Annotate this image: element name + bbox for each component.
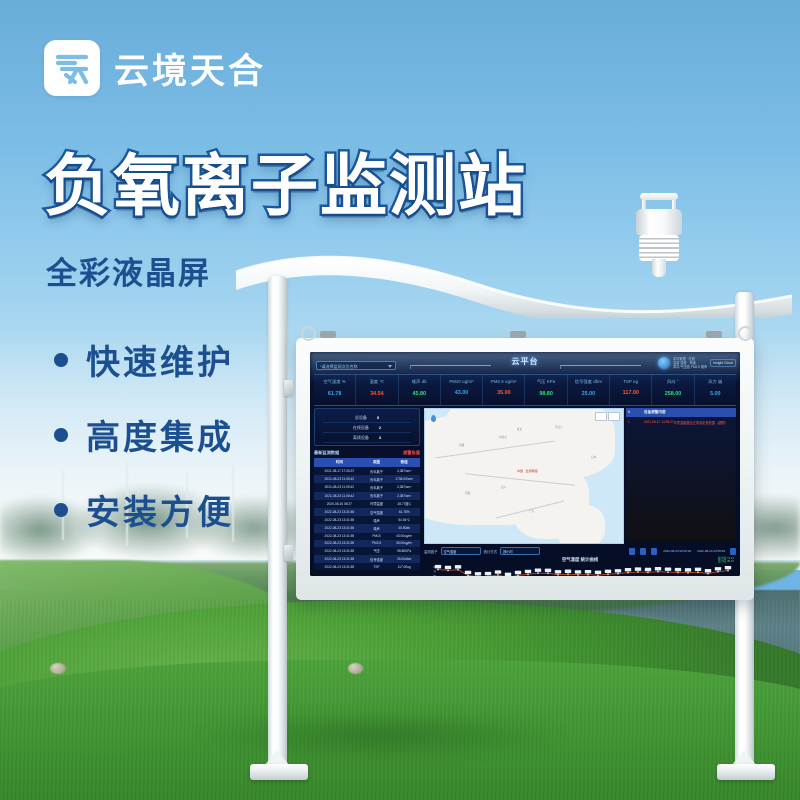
chart-point-label (535, 568, 541, 571)
feature-label: 安装方便 (86, 485, 234, 534)
dashboard-screen[interactable]: 云平台 *请选择监测点位名称 实时数据 · 在线 温度 湿度 · 风速 风向 气… (310, 352, 740, 576)
map-region-label: 广东 (529, 509, 534, 513)
chart-point-label (725, 566, 731, 569)
chart-point (677, 572, 679, 574)
chart-line (438, 570, 728, 577)
table-row[interactable]: 2021-08-23 11:05:42负氧离子1736.00/cm³ (314, 475, 420, 483)
table-cell-value: 43.00ug/m³ (388, 533, 420, 540)
site-selector-value: *请选择监测点位名称 (320, 364, 358, 369)
metric-value: 34.54 (356, 391, 397, 397)
chart-point (627, 572, 629, 574)
chart-point-label (485, 572, 491, 575)
recent-alarm-label[interactable]: 超警告值 (403, 450, 420, 456)
chart-point (447, 569, 449, 571)
feature-label: 快速维护 (86, 335, 234, 384)
stat-value: 5 (377, 413, 379, 422)
chart-point-label (575, 570, 581, 573)
chart-point-label (665, 568, 671, 571)
chart-factor-select[interactable]: 空气湿度 (441, 547, 481, 555)
feature-item: 快速维护 (54, 335, 234, 384)
chart-ytick: 60 (433, 575, 436, 576)
map-fullscreen-icon[interactable] (608, 412, 620, 421)
chart-point-label (515, 571, 521, 574)
table-cell-time: 2022-08-23 13:31:55 (314, 563, 365, 570)
chart-point-label (605, 570, 611, 573)
stat-row: 总设备5 (323, 413, 411, 423)
metric-value: 117.00 (610, 390, 651, 396)
table-cell-value: 1736.00/cm³ (388, 475, 420, 483)
monitor-ring (301, 326, 316, 341)
table-row[interactable]: 2022-08-23 13:31:55TSP117.00ug (314, 563, 420, 570)
rock (348, 663, 363, 674)
table-row[interactable]: 2022-08-23 13:31:55噪声54.54℃ (314, 516, 420, 524)
table-cell-value: 2,387/cm³ (388, 492, 420, 500)
chart-point-label (545, 569, 551, 572)
chart-point (687, 572, 689, 574)
ultrasonic-weather-sensor-icon (630, 193, 688, 275)
chart-point-label (555, 570, 561, 573)
table-cell-type: PM10 (365, 533, 389, 540)
bullet-dot-icon (54, 428, 68, 442)
metric-value: 98.80 (525, 391, 566, 397)
monitor-hanger (706, 331, 722, 338)
chart-point-label (455, 565, 461, 568)
metric-value: 5.00 (695, 391, 736, 397)
chart-range-day-button[interactable] (629, 548, 635, 555)
metric-cell: PM2.5 ug/m³35.00 (483, 375, 525, 405)
chart-point (727, 570, 729, 572)
chart-point (697, 571, 699, 573)
chart-point (657, 571, 659, 573)
alarm-row[interactable]: 12021-08-17 14:36:27环境温度超出正常设定值范围（超限） (626, 417, 736, 427)
chart-point (617, 573, 619, 575)
alarm-header-row: #设备报警内容 (626, 408, 736, 417)
table-cell-value: 45.80db (388, 524, 420, 532)
map-zoom-out-icon[interactable] (595, 412, 607, 421)
chart-point (467, 574, 469, 576)
chart-point-label (715, 567, 721, 570)
table-cell-type: 负氧离子 (365, 492, 389, 500)
metric-value: 45.80 (399, 391, 440, 397)
feature-list: 快速维护高度集成安装方便 (54, 335, 234, 560)
table-cell-time: 2022-08-23 13:31:55 (314, 516, 365, 524)
table-cell-value: 25.00dbm (388, 555, 420, 563)
cloud-sun-icon (658, 357, 670, 369)
site-selector[interactable]: *请选择监测点位名称 (316, 361, 396, 370)
top-right-info: 实时数据 · 在线 温度 湿度 · 风速 风向 气压值 PM2.5 噪声 (673, 357, 707, 369)
chart-range-week-button[interactable] (640, 548, 646, 555)
monitor-hanger (320, 331, 336, 338)
metric-label: 气压 KPa (525, 379, 566, 385)
table-column-header: 数值 (388, 458, 420, 467)
table-cell-type: 环境温度 (365, 500, 389, 508)
left-panel: 总设备5在线设备2离线设备3 最新监测数据 超警告值 时间类型数值 2021-0… (314, 408, 420, 572)
lcd-monitor: 云平台 *请选择监测点位名称 实时数据 · 在线 温度 湿度 · 风速 风向 气… (296, 338, 754, 600)
chart-point-label (585, 570, 591, 573)
chart-point (567, 573, 569, 575)
table-cell-type: TSP (365, 563, 389, 570)
table-cell-value: 54.54℃ (388, 516, 420, 524)
support-post-left (268, 276, 287, 776)
chart-date-to[interactable]: 2022-08-23 23:59:59 (697, 549, 725, 553)
chart-point (527, 573, 529, 575)
chart-point (637, 571, 639, 573)
humidity-line-chart: 8070605040302000:0001:0002:0003:0004:000… (424, 564, 732, 576)
map-panel[interactable]: 中国 · 监测网络 新疆 内蒙古 黑龙江 西藏 四川 广东 日本 蒙古 (424, 408, 624, 544)
chart-point-label (655, 567, 661, 570)
brand-logo: 云境天合 (44, 40, 266, 96)
chart-ytick: 70 (433, 571, 436, 574)
table-row[interactable]: 2020-08-16 05:27环境温度28.77度C (314, 500, 420, 508)
alarm-cell-message: 环境温度超出正常设定值范围（超限） (674, 420, 728, 425)
stat-value: 3 (379, 433, 381, 442)
map-center-label: 中国 · 监测网络 (517, 469, 538, 473)
metric-value: 61.78 (314, 391, 355, 397)
bullet-dot-icon (54, 353, 68, 367)
top-right-chip-2: 风向 气压值 PM2.5 噪声 (673, 365, 707, 369)
base-plate-left (250, 764, 308, 780)
chart-range-month-button[interactable] (651, 548, 657, 555)
table-cell-time: 2021-08-23 11:05:42 (314, 483, 365, 491)
table-row[interactable]: 2022-08-23 13:31:55空气湿度61.78% (314, 508, 420, 516)
metric-cell: PM10 ug/m³43.00 (441, 375, 483, 405)
metric-label: 噪声 db (399, 379, 440, 385)
alarm-body: 12021-08-17 14:36:27环境温度超出正常设定值范围（超限） (626, 417, 736, 427)
table-cell-time: 2022-08-23 13:31:55 (314, 555, 365, 563)
chevron-down-icon (388, 365, 392, 368)
chart-point (707, 573, 709, 575)
table-cell-time: 2022-08-23 13:31:55 (314, 533, 365, 540)
chart-point-label (625, 568, 631, 571)
table-cell-time: 2021-08-23 11:05:42 (314, 475, 365, 483)
chart-mode-select[interactable]: 按小时 (500, 547, 540, 555)
chart-point (457, 569, 459, 571)
base-plate-right (717, 764, 775, 780)
metric-cell: 空气湿度 %61.78 (314, 375, 356, 405)
metric-label: 风力 级 (695, 379, 736, 385)
chart-point-label (645, 568, 651, 571)
table-cell-type: 噪声 (365, 516, 389, 524)
table-cell-time: 2022-08-23 13:31:55 (314, 524, 365, 532)
map-region-label: 蒙古 (517, 427, 522, 431)
product-banner: 云平台 *请选择监测点位名称 实时数据 · 在线 温度 湿度 · 风速 风向 气… (0, 0, 800, 800)
dashboard-root: 云平台 *请选择监测点位名称 实时数据 · 在线 温度 湿度 · 风速 风向 气… (310, 352, 740, 576)
table-cell-type: 负氧离子 (365, 475, 389, 483)
stat-label: 在线设备 (353, 423, 369, 432)
table-cell-value: 117.00ug (388, 563, 420, 570)
table-cell-value: 98.80KPa (388, 547, 420, 555)
grass-shadow (120, 700, 640, 770)
table-row[interactable]: 2022-08-23 13:31:55信号强度25.00dbm (314, 555, 420, 563)
chart-point-label (475, 572, 481, 575)
feature-item: 安装方便 (54, 485, 234, 534)
alarm-column-header: 设备 (644, 410, 651, 415)
alarm-column-header: 报警内容 (651, 410, 665, 415)
metric-label: PM10 ug/m³ (441, 379, 482, 384)
stat-row: 在线设备2 (323, 423, 411, 433)
metric-cell: 风力 级5.00 (695, 375, 736, 405)
chart-point-label (615, 569, 621, 572)
table-row[interactable]: 2022-08-23 13:31:55噪声45.80db (314, 524, 420, 532)
metric-label: TSP ug (610, 379, 651, 384)
chart-point-label (435, 565, 441, 568)
table-row[interactable]: 2021-08-17 17:26:37负氧离子2,387/cm³ (314, 467, 420, 475)
rock (50, 663, 66, 674)
recent-header: 最新监测数据 超警告值 (314, 450, 420, 456)
table-cell-time: 2022-08-23 13:31:55 (314, 540, 365, 547)
table-row[interactable]: 2022-08-23 13:31:55PM2.535.00ug/m³ (314, 540, 420, 547)
table-cell-type: 气压 (365, 547, 389, 555)
chart-point (577, 574, 579, 576)
chart-point-label (685, 568, 691, 571)
chart-point-label (695, 568, 701, 571)
table-cell-type: 负氧离子 (365, 483, 389, 491)
bullet-dot-icon (54, 503, 68, 517)
table-cell-type: 信号强度 (365, 555, 389, 563)
metric-cell: 风向 °258.00 (652, 375, 694, 405)
alarm-cell-device: 2021-08-17 14:36:27 (644, 420, 674, 425)
chart-point-label (565, 570, 571, 573)
chart-point (597, 574, 599, 576)
chart-point-label (445, 566, 451, 569)
metric-label: 信号强度 dbm (568, 379, 609, 385)
chart-legend-min: 最小值 48.10 (718, 560, 734, 563)
stat-label: 总设备 (355, 413, 367, 422)
map-pin-icon[interactable] (431, 415, 436, 422)
table-header-row: 时间类型数值 (314, 458, 420, 467)
feature-label: 高度集成 (86, 410, 234, 459)
table-cell-type: 噪声 (365, 524, 389, 532)
chart-point-label (465, 571, 471, 574)
metric-label: 空气湿度 % (314, 379, 355, 385)
recent-data-table: 时间类型数值 2021-08-17 17:26:37负氧离子2,387/cm³2… (314, 458, 420, 570)
alarm-column-header: # (628, 410, 644, 415)
map-region-label: 日本 (591, 455, 596, 459)
chart-point-label (525, 570, 531, 573)
metric-value: 35.00 (483, 390, 524, 396)
chart-factor-label: 监测因子 (424, 549, 438, 554)
table-row[interactable]: 2021-08-23 11:05:42负氧离子2,387/cm³ (314, 483, 420, 491)
table-cell-value: 2,387/cm³ (388, 467, 420, 475)
metrics-row: 空气湿度 %61.78温度 ℃34.54噪声 db45.80PM10 ug/m³… (314, 374, 736, 406)
metric-cell: 温度 ℃34.54 (356, 375, 398, 405)
brand-name: 云境天合 (114, 43, 266, 94)
stat-row: 离线设备3 (323, 433, 411, 443)
chart-point (537, 572, 539, 574)
chart-point (547, 572, 549, 574)
table-cell-type: PM2.5 (365, 540, 389, 547)
mount-clip (284, 545, 293, 561)
metric-value: 25.00 (568, 391, 609, 397)
table-cell-time: 2022-08-23 13:31:55 (314, 508, 365, 516)
table-column-header: 类型 (365, 458, 389, 467)
metric-label: 风向 ° (652, 379, 693, 385)
monitor-ring (738, 326, 753, 341)
metric-value: 43.00 (441, 390, 482, 396)
table-column-header: 时间 (314, 458, 365, 467)
chart-export-button[interactable] (730, 548, 736, 555)
metric-label: PM2.5 ug/m³ (483, 379, 524, 384)
chart-controls: 监测因子 空气湿度 统计方式 按小时 2022-08-23 00:00:00 2… (424, 546, 736, 556)
device-stats-box: 总设备5在线设备2离线设备3 (314, 408, 420, 446)
table-cell-time: 2021-08-23 11:05:42 (314, 492, 365, 500)
dashboard-top-right: 实时数据 · 在线 温度 湿度 · 风速 风向 气压值 PM2.5 噪声 Ins… (658, 357, 736, 369)
chart-point-label (595, 571, 601, 574)
chart-point (717, 571, 719, 573)
wave-canopy (236, 248, 792, 318)
metric-cell: TSP ug117.00 (610, 375, 652, 405)
chart-point (647, 572, 649, 574)
corner-label: Insight Cloud (710, 359, 736, 367)
chart-point-label (705, 569, 711, 572)
table-cell-value: 2,387/cm³ (388, 483, 420, 491)
metric-cell: 气压 KPa98.80 (525, 375, 567, 405)
brand-monogram-icon (44, 40, 100, 96)
chart-mode-label: 统计方式 (484, 549, 498, 554)
alarm-cell-index: 1 (628, 420, 644, 425)
alarm-panel: #设备报警内容 12021-08-17 14:36:27环境温度超出正常设定值范… (626, 408, 736, 542)
table-cell-value: 28.77度C (388, 500, 420, 508)
table-row[interactable]: 2021-08-23 11:05:42负氧离子2,387/cm³ (314, 492, 420, 500)
chart-point (437, 569, 439, 571)
chart-point-label (505, 573, 511, 576)
chart-date-from[interactable]: 2022-08-23 00:00:00 (663, 549, 691, 553)
chart-point (667, 571, 669, 573)
map-region-label: 新疆 (459, 443, 464, 447)
table-cell-type: 负氧离子 (365, 467, 389, 475)
map-region-label: 黑龙江 (555, 425, 563, 429)
chart-point (587, 574, 589, 576)
table-body: 2021-08-17 17:26:37负氧离子2,387/cm³2021-08-… (314, 467, 420, 570)
chart-panel: 监测因子 空气湿度 统计方式 按小时 2022-08-23 00:00:00 2… (424, 546, 736, 574)
chart-point-label (675, 568, 681, 571)
chart-title: 空气湿度 统计曲线 (424, 557, 736, 563)
chart-point (497, 574, 499, 576)
mount-clip (284, 380, 293, 396)
chart-point-label (495, 570, 501, 573)
map-region-label: 四川 (501, 485, 506, 489)
monitor-hanger (510, 331, 526, 338)
map-region-label: 西藏 (465, 491, 470, 495)
stat-value: 2 (379, 423, 381, 432)
table-row[interactable]: 2022-08-23 13:31:55PM1043.00ug/m³ (314, 533, 420, 540)
metric-value: 258.00 (652, 391, 693, 397)
chart-point (557, 574, 559, 576)
table-cell-type: 空气湿度 (365, 508, 389, 516)
feature-item: 高度集成 (54, 410, 234, 459)
chart-point (607, 573, 609, 575)
metric-cell: 信号强度 dbm25.00 (568, 375, 610, 405)
metric-cell: 噪声 db45.80 (399, 375, 441, 405)
metric-label: 温度 ℃ (356, 379, 397, 385)
table-cell-time: 2022-08-23 13:31:55 (314, 547, 365, 555)
page-title: 负氧离子监测站 (44, 132, 527, 229)
map-region-label: 内蒙古 (499, 435, 507, 439)
table-cell-time: 2021-08-17 17:26:37 (314, 467, 365, 475)
table-cell-time: 2020-08-16 05:27 (314, 500, 365, 508)
stat-label: 离线设备 (353, 433, 369, 442)
table-cell-value: 61.78% (388, 508, 420, 516)
chart-point (517, 575, 519, 576)
table-cell-value: 35.00ug/m³ (388, 540, 420, 547)
table-row[interactable]: 2022-08-23 13:31:55气压98.80KPa (314, 547, 420, 555)
chart-point-label (635, 567, 641, 570)
recent-title: 最新监测数据 (314, 450, 339, 456)
subtitle: 全彩液晶屏 (46, 248, 211, 293)
